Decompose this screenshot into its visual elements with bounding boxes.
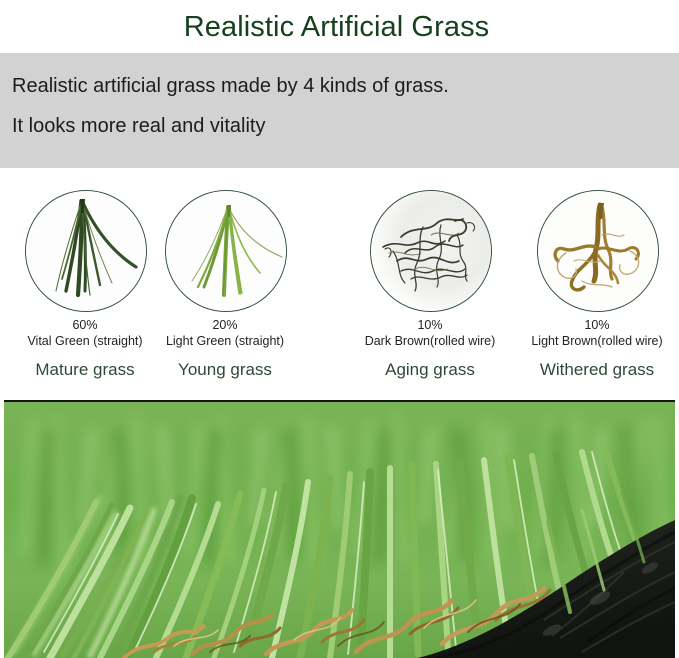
straight-blades-dark-green-icon <box>26 191 146 311</box>
grass-sample-circle-young <box>165 190 287 312</box>
grass-sample-circle-withered <box>537 190 659 312</box>
rolled-wire-light-brown-icon <box>538 191 658 311</box>
description-line-2: It looks more real and vitality <box>12 114 265 138</box>
grass-sample-circle-aging <box>370 190 492 312</box>
grass-type-card-young: 20% Light Green (straight) Young grass <box>140 168 310 396</box>
grass-type-card-withered: 10% Light Brown(rolled wire) Withered gr… <box>512 168 679 396</box>
straight-blades-light-green-icon <box>166 191 286 311</box>
hero-photo-frame <box>4 400 675 658</box>
description-band: Realistic artificial grass made by 4 kin… <box>0 53 679 168</box>
page-title: Realistic Artificial Grass <box>184 10 496 44</box>
grass-types-row: 60% Vital Green (straight) Mature grass <box>0 168 679 396</box>
grass-percent: 10% <box>512 318 679 333</box>
grass-stage-label: Young grass <box>132 359 318 380</box>
grass-kind-label: Light Green (straight) <box>132 334 318 349</box>
grass-percent: 20% <box>140 318 310 333</box>
grass-sample-circle-mature <box>25 190 147 312</box>
grass-stage-label: Withered grass <box>504 359 679 380</box>
grass-percent: 10% <box>345 318 515 333</box>
grass-type-card-aging: 10% Dark Brown(rolled wire) Aging grass <box>345 168 515 396</box>
product-infographic: Realistic Artificial Grass Realistic art… <box>0 0 679 658</box>
rolled-wire-dark-brown-icon <box>371 191 491 311</box>
grass-kind-label: Dark Brown(rolled wire) <box>337 334 523 349</box>
grass-stage-label: Aging grass <box>337 359 523 380</box>
description-line-1: Realistic artificial grass made by 4 kin… <box>12 74 449 98</box>
grass-kind-label: Light Brown(rolled wire) <box>504 334 679 349</box>
title-bar: Realistic Artificial Grass <box>0 0 679 53</box>
close-up-artificial-grass-photo <box>4 402 675 658</box>
